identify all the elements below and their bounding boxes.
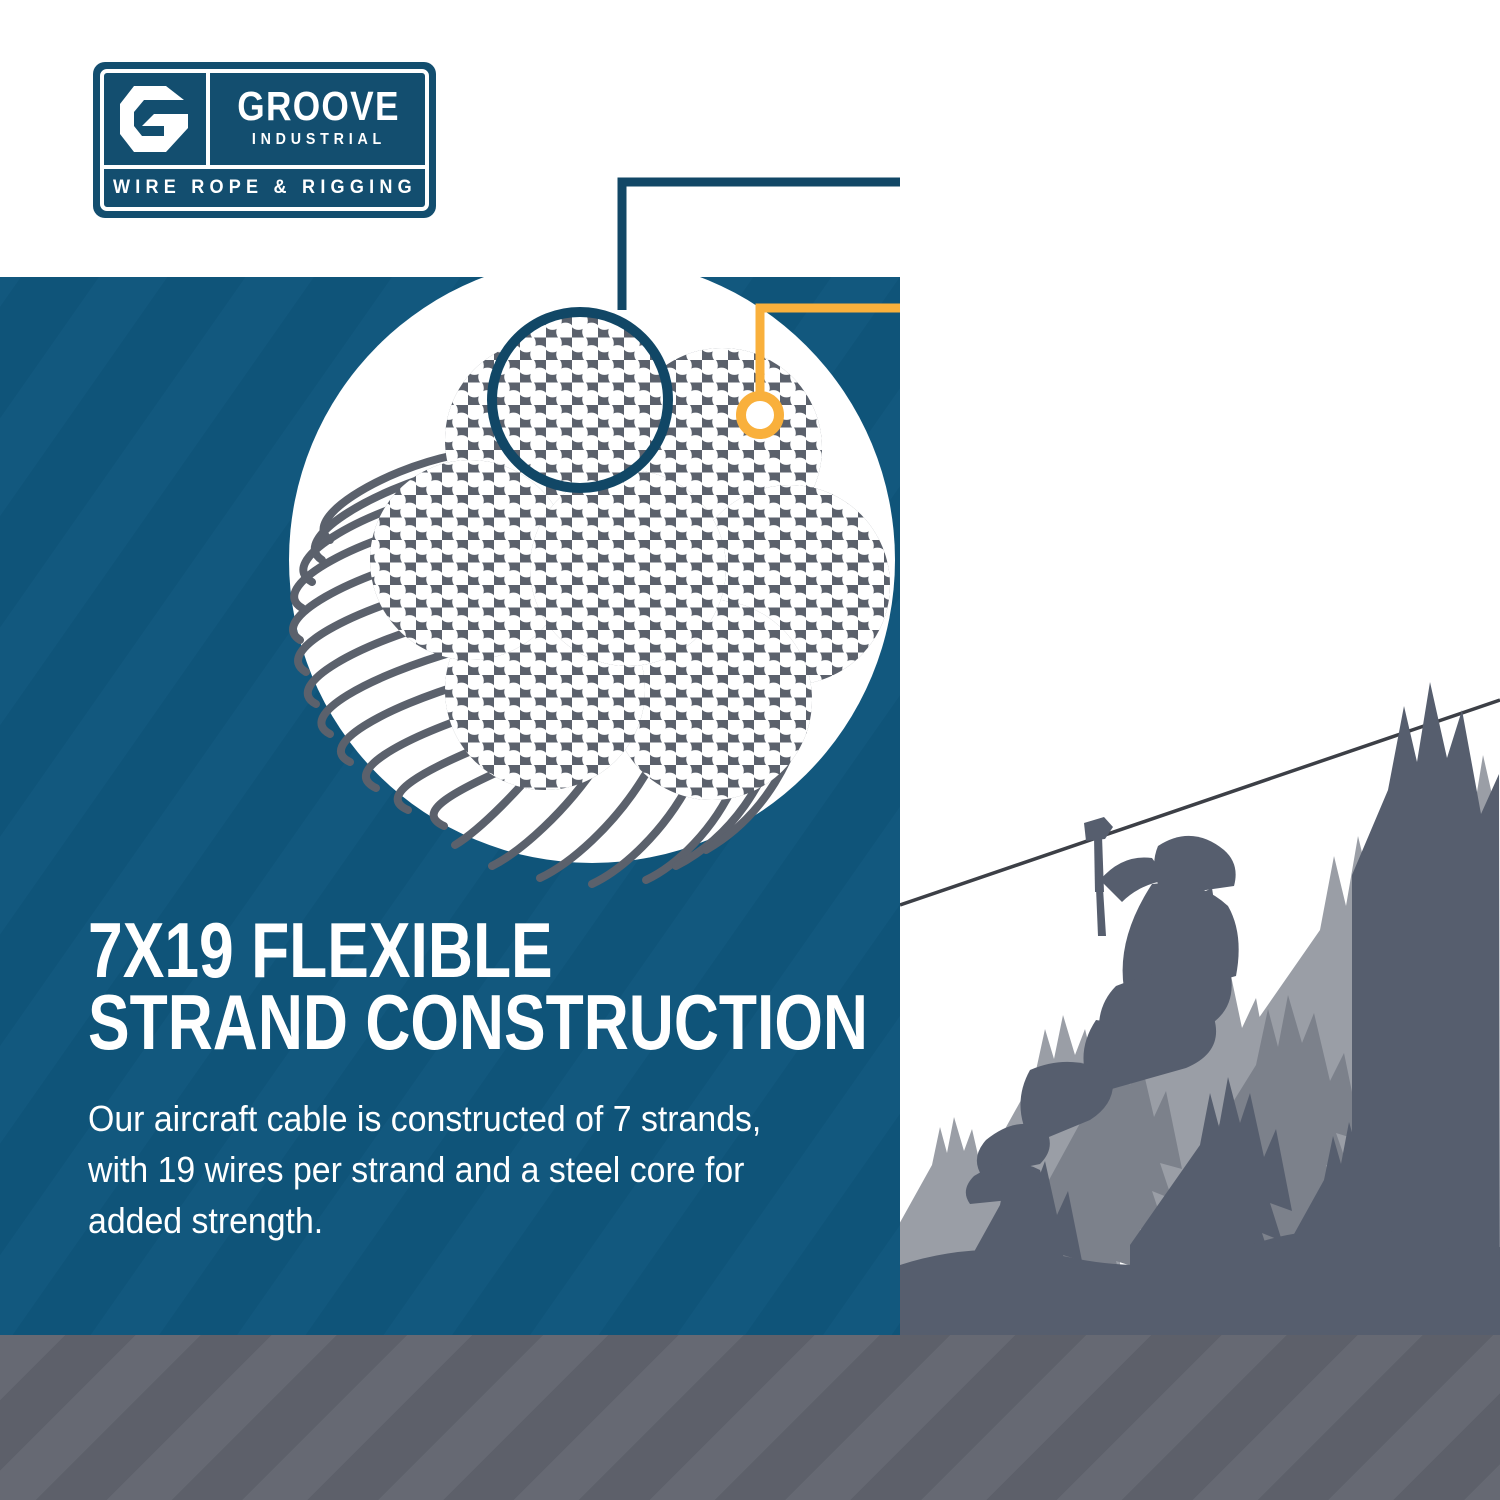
brand-tagline: WIRE ROPE & RIGGING <box>113 177 417 199</box>
ground-band <box>0 1335 1500 1500</box>
zipline-forest-scene <box>900 0 1500 1335</box>
headline-line-1: 7X19 FLEXIBLE <box>88 915 712 987</box>
brand-logo[interactable]: GROOVE INDUSTRIAL WIRE ROPE & RIGGING <box>93 62 436 218</box>
body-paragraph: Our aircraft cable is constructed of 7 s… <box>88 1093 784 1246</box>
groove-g-icon <box>104 73 210 165</box>
headline-block: 7X19 FLEXIBLE STRAND CONSTRUCTION Our ai… <box>88 915 868 1246</box>
infographic-canvas: GROOVE INDUSTRIAL WIRE ROPE & RIGGING 7 … <box>0 0 1500 1500</box>
brand-subtitle: INDUSTRIAL <box>251 131 385 149</box>
brand-name: GROOVE <box>237 87 400 126</box>
headline-line-2: STRAND CONSTRUCTION <box>88 987 712 1059</box>
